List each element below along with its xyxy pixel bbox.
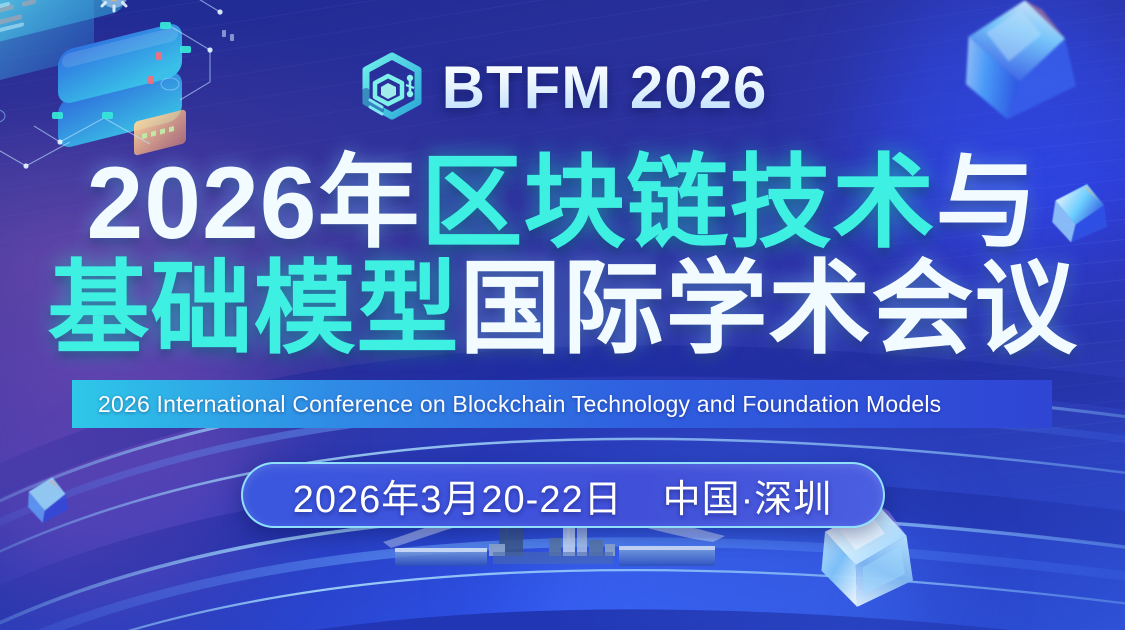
title-line2-cyan: 基础模型 [48, 252, 460, 366]
blockchain-hexagon-icon [358, 52, 426, 124]
title-line1-white-suffix: 与 [935, 146, 1038, 260]
title-line2-white: 国际学术会议 [460, 252, 1078, 366]
logo-row: BTFM 2026 [0, 52, 1125, 124]
english-subtitle-bar: 2026 International Conference on Blockch… [72, 380, 1052, 428]
title-line-2: 基础模型国际学术会议 [0, 256, 1125, 362]
date-location-pill: 2026年3月20-22日 中国·深圳 [241, 462, 885, 528]
title-line1-cyan: 区块链技术 [420, 146, 935, 260]
logo-text: BTFM 2026 [442, 58, 768, 118]
conference-location: 中国·深圳 [663, 468, 833, 523]
conference-date: 2026年3月20-22日 [293, 468, 623, 523]
main-title: 2026年区块链技术与 基础模型国际学术会议 [0, 150, 1125, 362]
conference-banner: BTFM 2026 2026年区块链技术与 基础模型国际学术会议 2026 In… [0, 0, 1125, 630]
title-line-1: 2026年区块链技术与 [0, 150, 1125, 256]
english-subtitle-text: 2026 International Conference on Blockch… [72, 391, 941, 418]
title-line1-white-prefix: 2026年 [87, 146, 421, 260]
